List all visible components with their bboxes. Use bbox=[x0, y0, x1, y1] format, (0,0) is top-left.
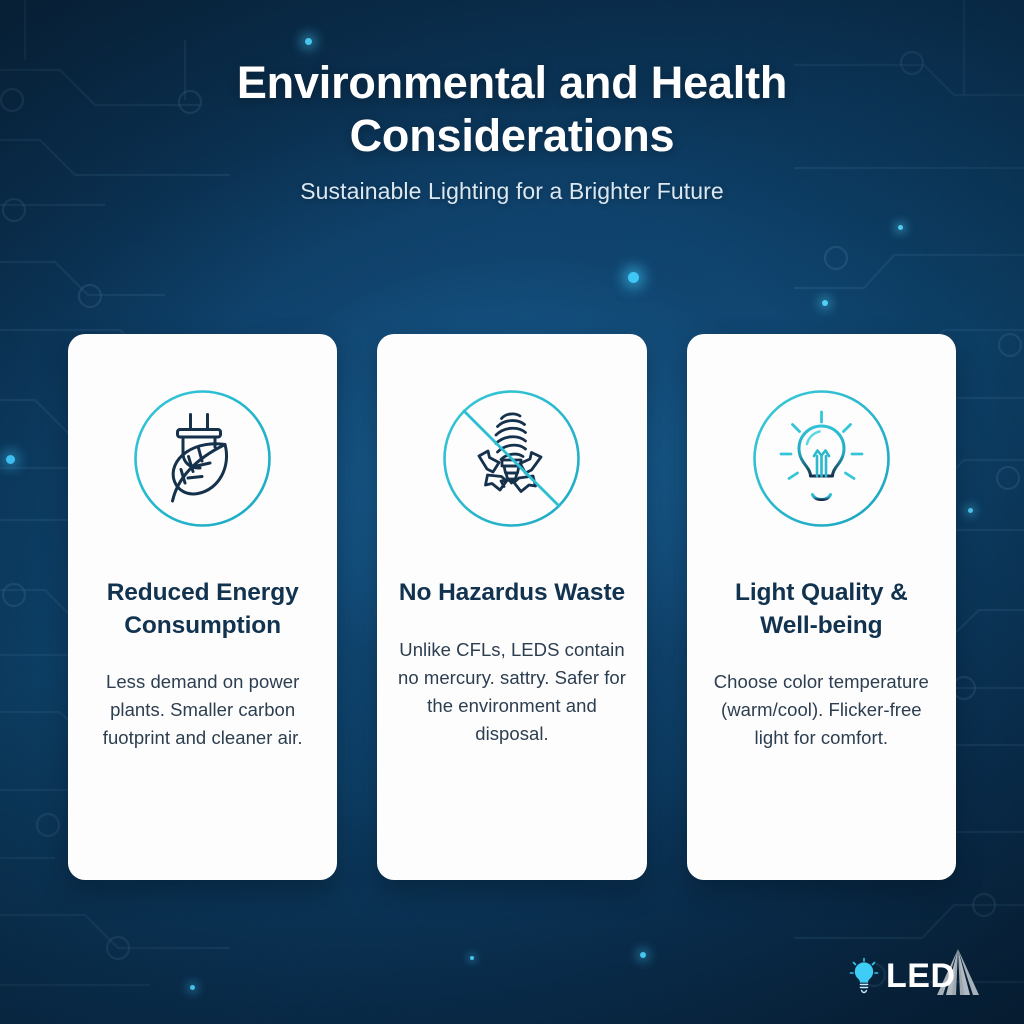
bokeh-dot bbox=[628, 272, 639, 283]
feature-card-row: Reduced Energy Consumption Less demand o… bbox=[68, 334, 956, 880]
no-cfl-recycle-icon bbox=[441, 388, 582, 529]
logo-text: LED bbox=[886, 956, 956, 996]
feature-card-reduced-energy[interactable]: Reduced Energy Consumption Less demand o… bbox=[68, 334, 337, 880]
page-title: Environmental and Health Considerations bbox=[0, 56, 1024, 162]
bokeh-dot bbox=[968, 508, 973, 513]
feature-card-no-hazardous-waste[interactable]: No Hazardus Waste Unlike CFLs, LEDS cont… bbox=[377, 334, 646, 880]
card-body: Less demand on power plants. Smaller car… bbox=[86, 668, 319, 752]
bokeh-dot bbox=[6, 455, 15, 464]
card-title: No Hazardus Waste bbox=[399, 577, 625, 610]
brand-logo[interactable]: LED bbox=[849, 956, 990, 996]
card-body: Unlike CFLs, LEDS contain no mercury. sa… bbox=[395, 636, 628, 748]
led-bulb-icon bbox=[849, 957, 879, 995]
bokeh-dot bbox=[470, 956, 474, 960]
header: Environmental and Health Considerations … bbox=[0, 0, 1024, 205]
bokeh-dot bbox=[898, 225, 903, 230]
plug-leaf-icon bbox=[132, 388, 273, 529]
bokeh-dot bbox=[822, 300, 828, 306]
glowing-bulb-icon bbox=[751, 388, 892, 529]
page-subtitle: Sustainable Lighting for a Brighter Futu… bbox=[0, 178, 1024, 205]
logo-wordmark: LED bbox=[886, 956, 990, 996]
card-title: Light Quality & Well-being bbox=[705, 577, 938, 642]
card-title: Reduced Energy Consumption bbox=[86, 577, 319, 642]
card-body: Choose color temperature (warm/cool). Fl… bbox=[705, 668, 938, 752]
bokeh-dot bbox=[190, 985, 195, 990]
feature-card-light-quality[interactable]: Light Quality & Well-being Choose color … bbox=[687, 334, 956, 880]
bokeh-dot bbox=[640, 952, 646, 958]
